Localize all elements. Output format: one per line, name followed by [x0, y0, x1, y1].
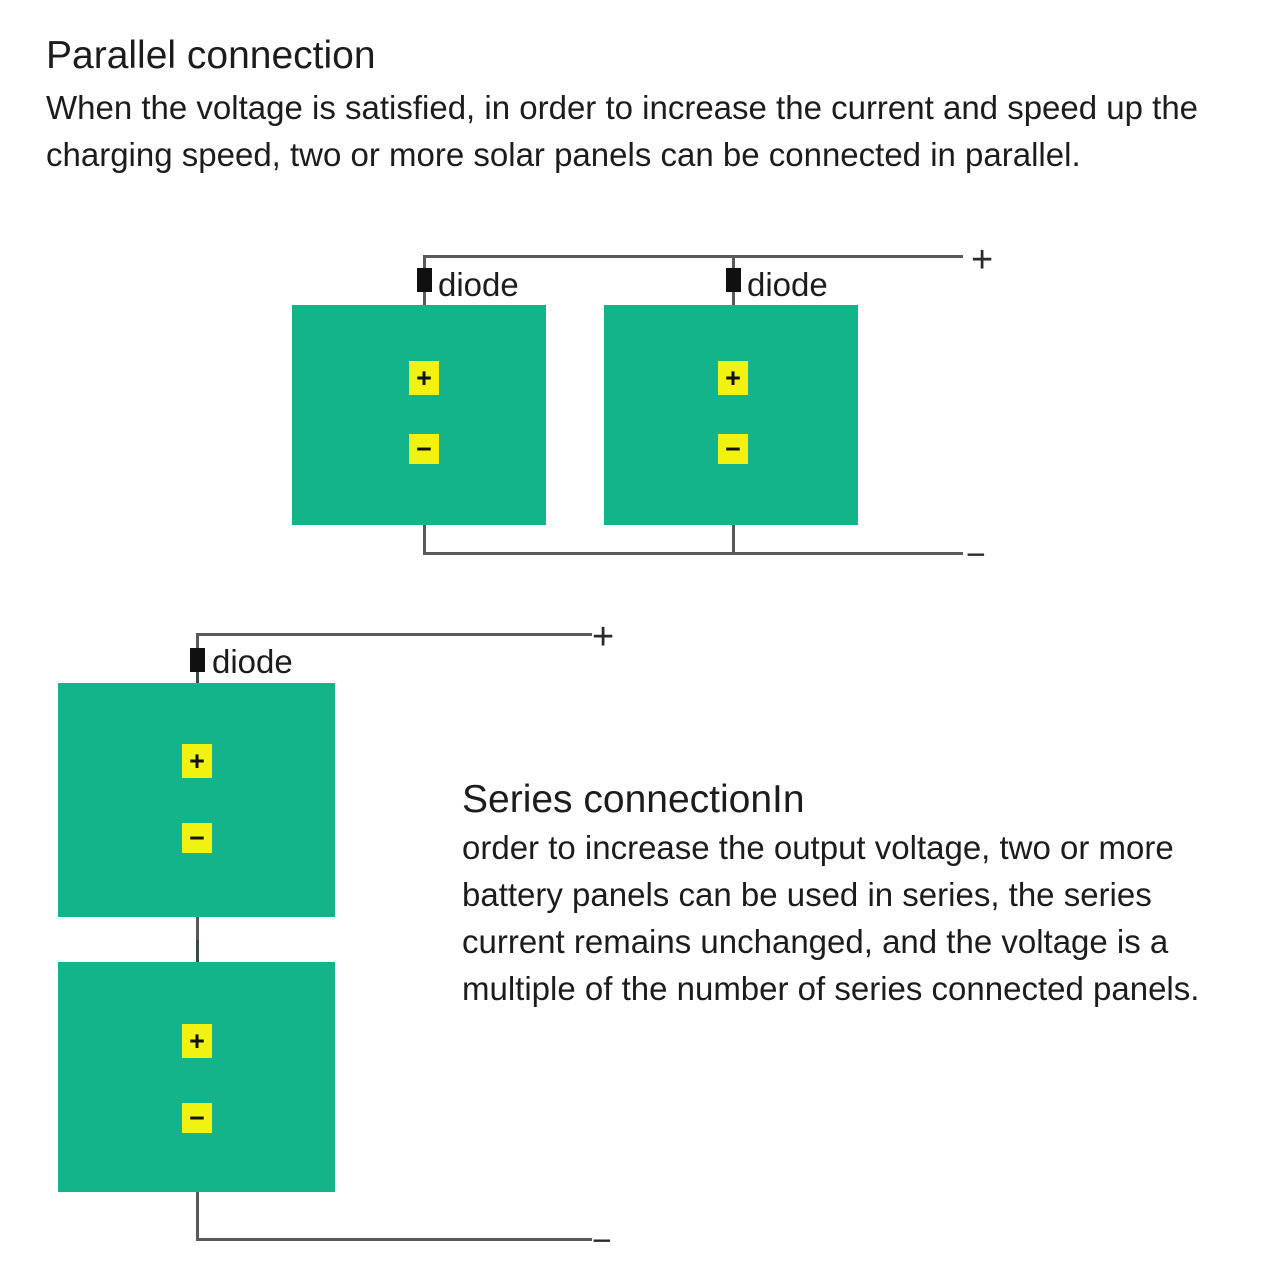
panel-terminal-positive: + — [409, 361, 439, 395]
series-top-lead-wire — [196, 633, 592, 636]
series-connection-heading: Series connectionIn — [462, 778, 805, 822]
diode-icon — [190, 648, 205, 672]
series-bottom-lead-wire — [196, 1238, 592, 1241]
panel-terminal-negative: − — [182, 1103, 212, 1133]
panel-terminal-positive: + — [182, 744, 212, 778]
parallel-bottom-bus-wire — [423, 552, 963, 555]
parallel-top-bus-wire — [423, 255, 963, 258]
parallel-connection-description: When the voltage is satisfied, in order … — [46, 84, 1236, 178]
parallel-output-negative-label: − — [966, 536, 986, 574]
diode-label-parallel-2: diode — [747, 268, 828, 301]
solar-panel-series-1 — [58, 683, 335, 917]
parallel-output-positive-label: + — [971, 241, 993, 279]
solar-panel-parallel-2 — [604, 305, 858, 525]
series-output-positive-label: + — [592, 618, 614, 656]
solar-panel-parallel-1 — [292, 305, 546, 525]
solar-panel-series-2 — [58, 962, 335, 1192]
panel-terminal-negative: − — [718, 434, 748, 464]
diode-icon — [726, 268, 741, 292]
parallel-connection-heading: Parallel connection — [46, 34, 376, 78]
panel-terminal-positive: + — [182, 1024, 212, 1058]
diode-icon — [417, 268, 432, 292]
panel-terminal-negative: − — [182, 823, 212, 853]
series-connection-description: order to increase the output voltage, tw… — [462, 824, 1252, 1012]
series-output-negative-label: − — [592, 1222, 612, 1260]
diode-label-parallel-1: diode — [438, 268, 519, 301]
panel-terminal-negative: − — [409, 434, 439, 464]
panel-terminal-positive: + — [718, 361, 748, 395]
diagram-page: Parallel connection When the voltage is … — [0, 0, 1280, 1280]
diode-label-series: diode — [212, 645, 293, 678]
